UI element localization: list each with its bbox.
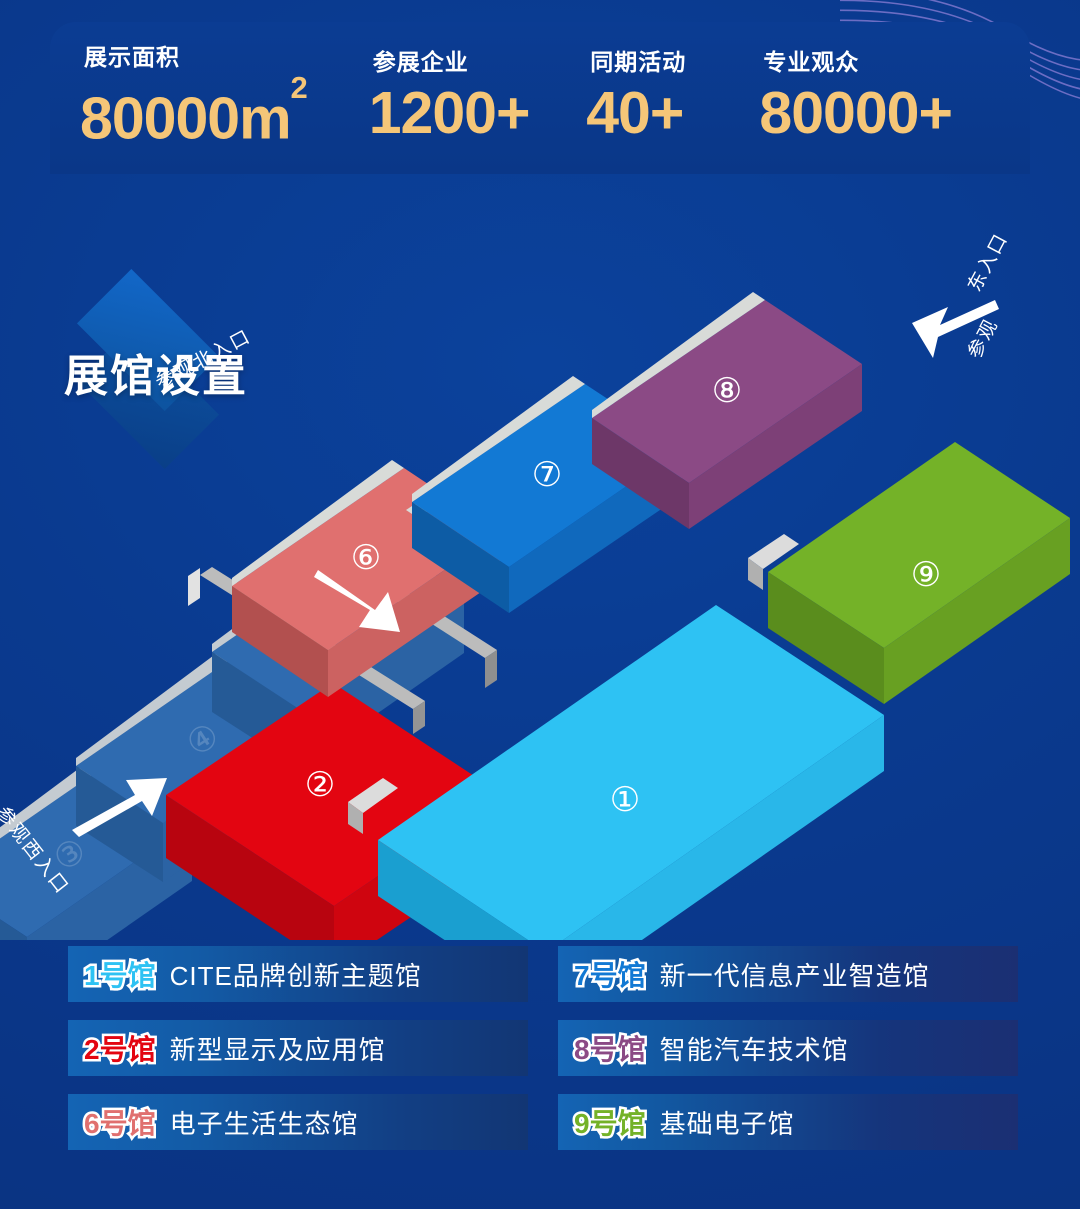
hall-block-9[interactable]: ⑨ <box>768 442 1070 704</box>
hall-number-9: ⑨ <box>911 556 941 594</box>
stat-value: 80000m2 <box>80 78 369 149</box>
legend-item-hall-1[interactable]: 1号馆 CITE品牌创新主题馆 <box>68 946 528 1002</box>
legend-badge: 1号馆 <box>84 954 156 994</box>
legend-label: 智能汽车技术馆 <box>660 1030 849 1067</box>
hall-number-2: ② <box>305 766 335 804</box>
legend-badge: 2号馆 <box>84 1028 156 1068</box>
exhibition-hall-map: .hm-num{ font-family:"Liberation Sans",s… <box>0 180 1080 940</box>
legend-column-right: 7号馆 新一代信息产业智造馆 8号馆 智能汽车技术馆 9号馆 基础电子馆 <box>558 946 1018 1168</box>
legend-badge: 8号馆 <box>574 1028 646 1068</box>
hall-number-6: ⑥ <box>351 539 381 577</box>
stat-events: 同期活动 40+ <box>586 49 759 143</box>
legend-item-hall-8[interactable]: 8号馆 智能汽车技术馆 <box>558 1020 1018 1076</box>
legend-badge: 9号馆 <box>574 1102 646 1142</box>
stat-label: 专业观众 <box>759 49 1000 75</box>
legend-label: CITE品牌创新主题馆 <box>170 956 422 993</box>
hall-number-1: ① <box>610 781 640 819</box>
hall-number-7: ⑦ <box>532 456 562 494</box>
legend-label: 电子生活生态馆 <box>170 1104 359 1141</box>
legend-item-hall-7[interactable]: 7号馆 新一代信息产业智造馆 <box>558 946 1018 1002</box>
legend-label: 新一代信息产业智造馆 <box>660 956 930 993</box>
stat-exhibitors: 参展企业 1200+ <box>369 49 586 143</box>
stat-value-superscript: 2 <box>291 70 307 105</box>
legend-label: 新型显示及应用馆 <box>170 1030 386 1067</box>
stat-value: 1200+ <box>369 83 586 143</box>
legend-item-hall-9[interactable]: 9号馆 基础电子馆 <box>558 1094 1018 1150</box>
legend-item-hall-6[interactable]: 6号馆 电子生活生态馆 <box>68 1094 528 1150</box>
stat-label: 参展企业 <box>369 49 586 75</box>
legend-badge: 7号馆 <box>574 954 646 994</box>
stats-panel: 展示面积 80000m2 参展企业 1200+ 同期活动 40+ 专业观众 80… <box>50 22 1030 174</box>
stat-visitors: 专业观众 80000+ <box>759 49 1000 143</box>
stat-value: 40+ <box>586 83 759 143</box>
legend-badge: 6号馆 <box>84 1102 156 1142</box>
legend-item-hall-2[interactable]: 2号馆 新型显示及应用馆 <box>68 1020 528 1076</box>
stat-value: 80000+ <box>759 83 1000 143</box>
hall-number-8: ⑧ <box>712 372 742 410</box>
legend-label: 基础电子馆 <box>660 1104 795 1141</box>
stat-value-text: 80000m <box>80 85 291 151</box>
stat-label: 同期活动 <box>586 49 759 75</box>
legend-column-left: 1号馆 CITE品牌创新主题馆 2号馆 新型显示及应用馆 6号馆 电子生活生态馆 <box>68 946 528 1168</box>
stat-label: 展示面积 <box>80 44 369 70</box>
stat-exhibition-area: 展示面积 80000m2 <box>80 44 369 149</box>
